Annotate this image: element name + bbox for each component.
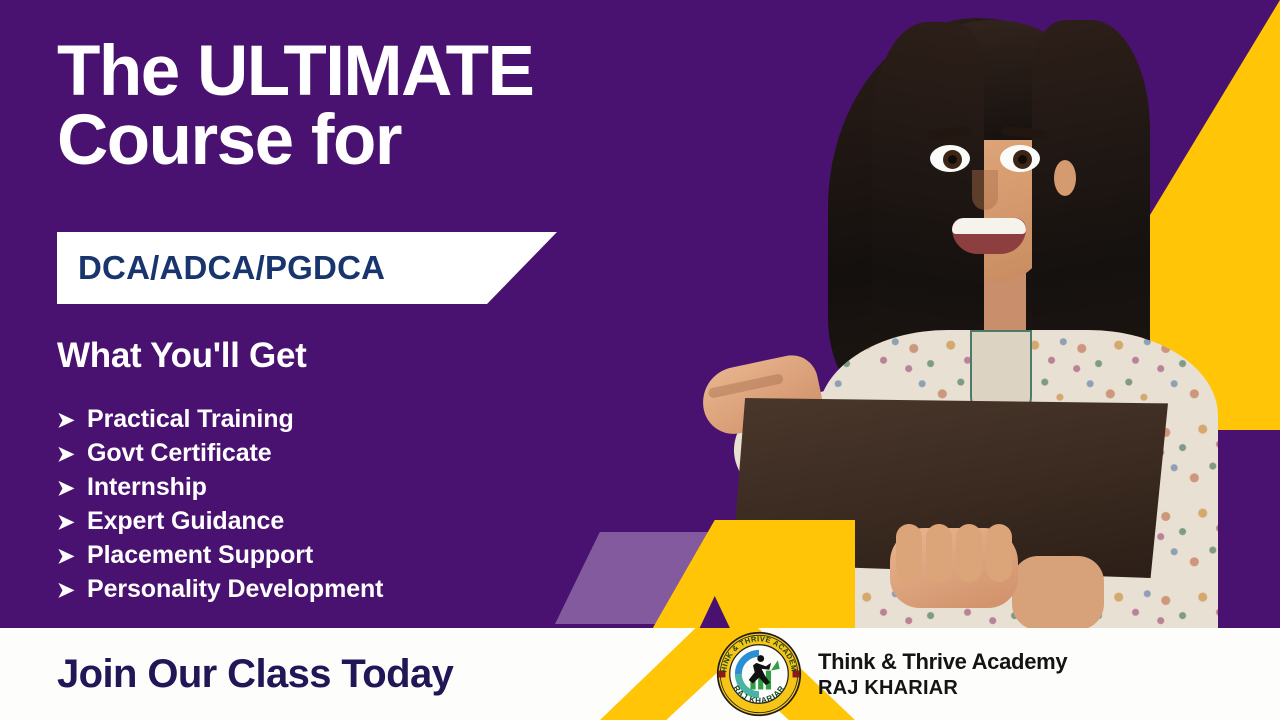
benefit-label: Expert Guidance xyxy=(87,504,284,538)
arrow-bullet-icon: ➤ xyxy=(57,441,87,470)
benefit-label: Practical Training xyxy=(87,402,294,436)
list-item: ➤ Expert Guidance xyxy=(57,504,383,538)
promotional-banner: The ULTIMATE Course for DCA/ADCA/PGDCA W… xyxy=(0,0,1280,720)
arrow-bullet-icon: ➤ xyxy=(57,577,87,606)
arrow-bullet-icon: ➤ xyxy=(57,407,87,436)
nose xyxy=(972,170,998,210)
arrow-bullet-icon: ➤ xyxy=(57,543,87,572)
list-item: ➤ Govt Certificate xyxy=(57,436,383,470)
list-item: ➤ Placement Support xyxy=(57,538,383,572)
list-item: ➤ Internship xyxy=(57,470,383,504)
benefit-label: Personality Development xyxy=(87,572,383,606)
finger xyxy=(926,524,952,582)
arrow-bullet-icon: ➤ xyxy=(57,509,87,538)
page-title: The ULTIMATE Course for xyxy=(57,38,697,176)
pupil-left xyxy=(948,155,957,164)
list-item: ➤ Personality Development xyxy=(57,572,383,606)
cta-text: Join Our Class Today xyxy=(57,652,453,697)
brand-block: THINK & THRIVE ACADEMY RAJ KHARIAR Think… xyxy=(716,628,1067,720)
teeth xyxy=(952,218,1026,234)
headline-line-2: Course for xyxy=(57,107,697,176)
arrow-bullet-icon: ➤ xyxy=(57,475,87,504)
brand-text: Think & Thrive Academy RAJ KHARIAR xyxy=(818,649,1067,700)
benefits-title: What You'll Get xyxy=(57,336,306,376)
academy-logo-icon: THINK & THRIVE ACADEMY RAJ KHARIAR xyxy=(716,631,802,717)
benefit-label: Internship xyxy=(87,470,207,504)
finger xyxy=(896,524,922,582)
wrist-right xyxy=(1012,556,1104,628)
benefit-label: Placement Support xyxy=(87,538,313,572)
benefit-label: Govt Certificate xyxy=(87,436,272,470)
brand-owner: RAJ KHARIAR xyxy=(818,677,1067,700)
benefits-list: ➤ Practical Training ➤ Govt Certificate … xyxy=(57,402,383,606)
course-badge: DCA/ADCA/PGDCA xyxy=(57,232,557,304)
headline-line-1: The ULTIMATE xyxy=(57,32,533,111)
mouth xyxy=(952,218,1026,254)
list-item: ➤ Practical Training xyxy=(57,402,383,436)
course-badge-label: DCA/ADCA/PGDCA xyxy=(57,249,385,287)
finger xyxy=(956,524,982,582)
brand-name: Think & Thrive Academy xyxy=(818,649,1067,675)
pupil-right xyxy=(1018,155,1027,164)
finger xyxy=(986,524,1012,582)
ear xyxy=(1054,160,1076,196)
